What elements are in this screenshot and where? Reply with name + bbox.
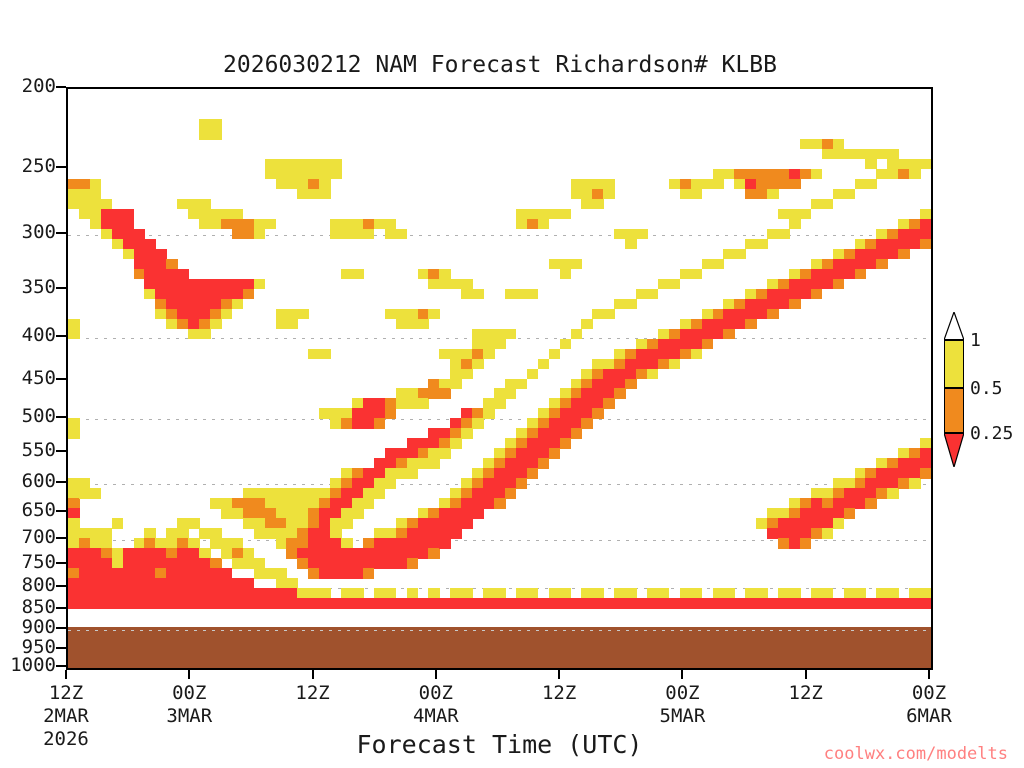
x-tick-time: 00Z xyxy=(859,682,999,705)
colorbar-band-yellow xyxy=(944,340,964,388)
watermark: coolwx.com/modelts xyxy=(824,744,1008,764)
y-tick-label-900: 900 xyxy=(0,618,56,637)
y-tick-mark-700 xyxy=(56,537,66,539)
x-tick-time: 12Z xyxy=(489,682,629,705)
x-tick-label-48: 12Z xyxy=(489,682,629,705)
x-tick-date: 3MAR xyxy=(119,705,259,728)
colorbar-cap-top xyxy=(944,312,964,340)
x-axis-label: Forecast Time (UTC) xyxy=(66,730,933,759)
y-tick-label-1000: 1000 xyxy=(0,656,56,675)
y-tick-label-850: 850 xyxy=(0,598,56,617)
x-tick-date: 6MAR xyxy=(859,705,999,728)
y-tick-mark-900 xyxy=(56,627,66,629)
x-tick-mark-24 xyxy=(312,670,314,679)
y-tick-label-350: 350 xyxy=(0,278,56,297)
y-tick-mark-500 xyxy=(56,416,66,418)
gridline-1000 xyxy=(68,668,931,669)
x-tick-time: 00Z xyxy=(366,682,506,705)
gridline-1000 xyxy=(68,668,931,669)
x-tick-mark-0 xyxy=(65,670,67,679)
y-tick-mark-850 xyxy=(56,607,66,609)
y-tick-mark-600 xyxy=(56,481,66,483)
x-tick-mark-48 xyxy=(558,670,560,679)
y-tick-mark-450 xyxy=(56,378,66,380)
plot-area xyxy=(66,87,933,670)
plot-canvas xyxy=(68,89,931,668)
y-tick-label-600: 600 xyxy=(0,472,56,491)
x-tick-label-12: 00Z3MAR xyxy=(119,682,259,728)
x-tick-label-24: 12Z xyxy=(243,682,383,705)
y-tick-mark-200 xyxy=(56,86,66,88)
x-tick-mark-36 xyxy=(435,670,437,679)
y-tick-label-250: 250 xyxy=(0,157,56,176)
x-tick-mark-60 xyxy=(681,670,683,679)
colorbar: 1 0.5 0.25 xyxy=(944,312,964,467)
y-tick-label-200: 200 xyxy=(0,77,56,96)
y-tick-label-300: 300 xyxy=(0,223,56,242)
x-tick-mark-84 xyxy=(928,670,930,679)
y-tick-label-750: 750 xyxy=(0,553,56,572)
colorbar-rule-025 xyxy=(944,432,964,434)
chart-root: 2026030212 NAM Forecast Richardson# KLBB… xyxy=(0,0,1024,768)
colorbar-tick-05: 0.5 xyxy=(970,380,1003,398)
y-tick-mark-300 xyxy=(56,232,66,234)
colorbar-band-orange xyxy=(944,388,964,433)
colorbar-cap-bottom xyxy=(944,433,964,467)
y-tick-mark-1000 xyxy=(56,665,66,667)
colorbar-rule-05 xyxy=(944,387,964,389)
gridline-900 xyxy=(68,630,931,631)
y-tick-mark-550 xyxy=(56,450,66,452)
x-tick-time: 12Z xyxy=(243,682,383,705)
x-tick-label-60: 00Z5MAR xyxy=(612,682,752,728)
y-tick-label-450: 450 xyxy=(0,369,56,388)
terrain-fill xyxy=(68,627,931,668)
colorbar-tick-025: 0.25 xyxy=(970,425,1013,443)
x-tick-date: 4MAR xyxy=(366,705,506,728)
y-tick-mark-650 xyxy=(56,510,66,512)
y-tick-label-650: 650 xyxy=(0,501,56,520)
x-tick-mark-72 xyxy=(805,670,807,679)
y-tick-mark-400 xyxy=(56,335,66,337)
x-tick-date: 5MAR xyxy=(612,705,752,728)
x-tick-time: 12Z xyxy=(0,682,136,705)
y-tick-mark-350 xyxy=(56,287,66,289)
y-tick-label-800: 800 xyxy=(0,576,56,595)
x-tick-time: 12Z xyxy=(736,682,876,705)
x-tick-time: 00Z xyxy=(612,682,752,705)
y-tick-label-550: 550 xyxy=(0,441,56,460)
x-tick-label-84: 00Z6MAR xyxy=(859,682,999,728)
x-tick-date: 2MAR xyxy=(0,705,136,728)
terrain-layer xyxy=(68,89,931,668)
y-tick-mark-950 xyxy=(56,647,66,649)
y-tick-label-700: 700 xyxy=(0,528,56,547)
x-tick-mark-12 xyxy=(188,670,190,679)
y-tick-label-500: 500 xyxy=(0,407,56,426)
colorbar-tick-1: 1 xyxy=(970,332,981,350)
x-tick-label-36: 00Z4MAR xyxy=(366,682,506,728)
y-tick-mark-800 xyxy=(56,585,66,587)
colorbar-rule-1 xyxy=(944,339,964,341)
x-tick-label-72: 12Z xyxy=(736,682,876,705)
page-title: 2026030212 NAM Forecast Richardson# KLBB xyxy=(0,52,1000,78)
y-tick-label-400: 400 xyxy=(0,326,56,345)
y-tick-mark-750 xyxy=(56,562,66,564)
y-tick-mark-250 xyxy=(56,166,66,168)
x-tick-time: 00Z xyxy=(119,682,259,705)
